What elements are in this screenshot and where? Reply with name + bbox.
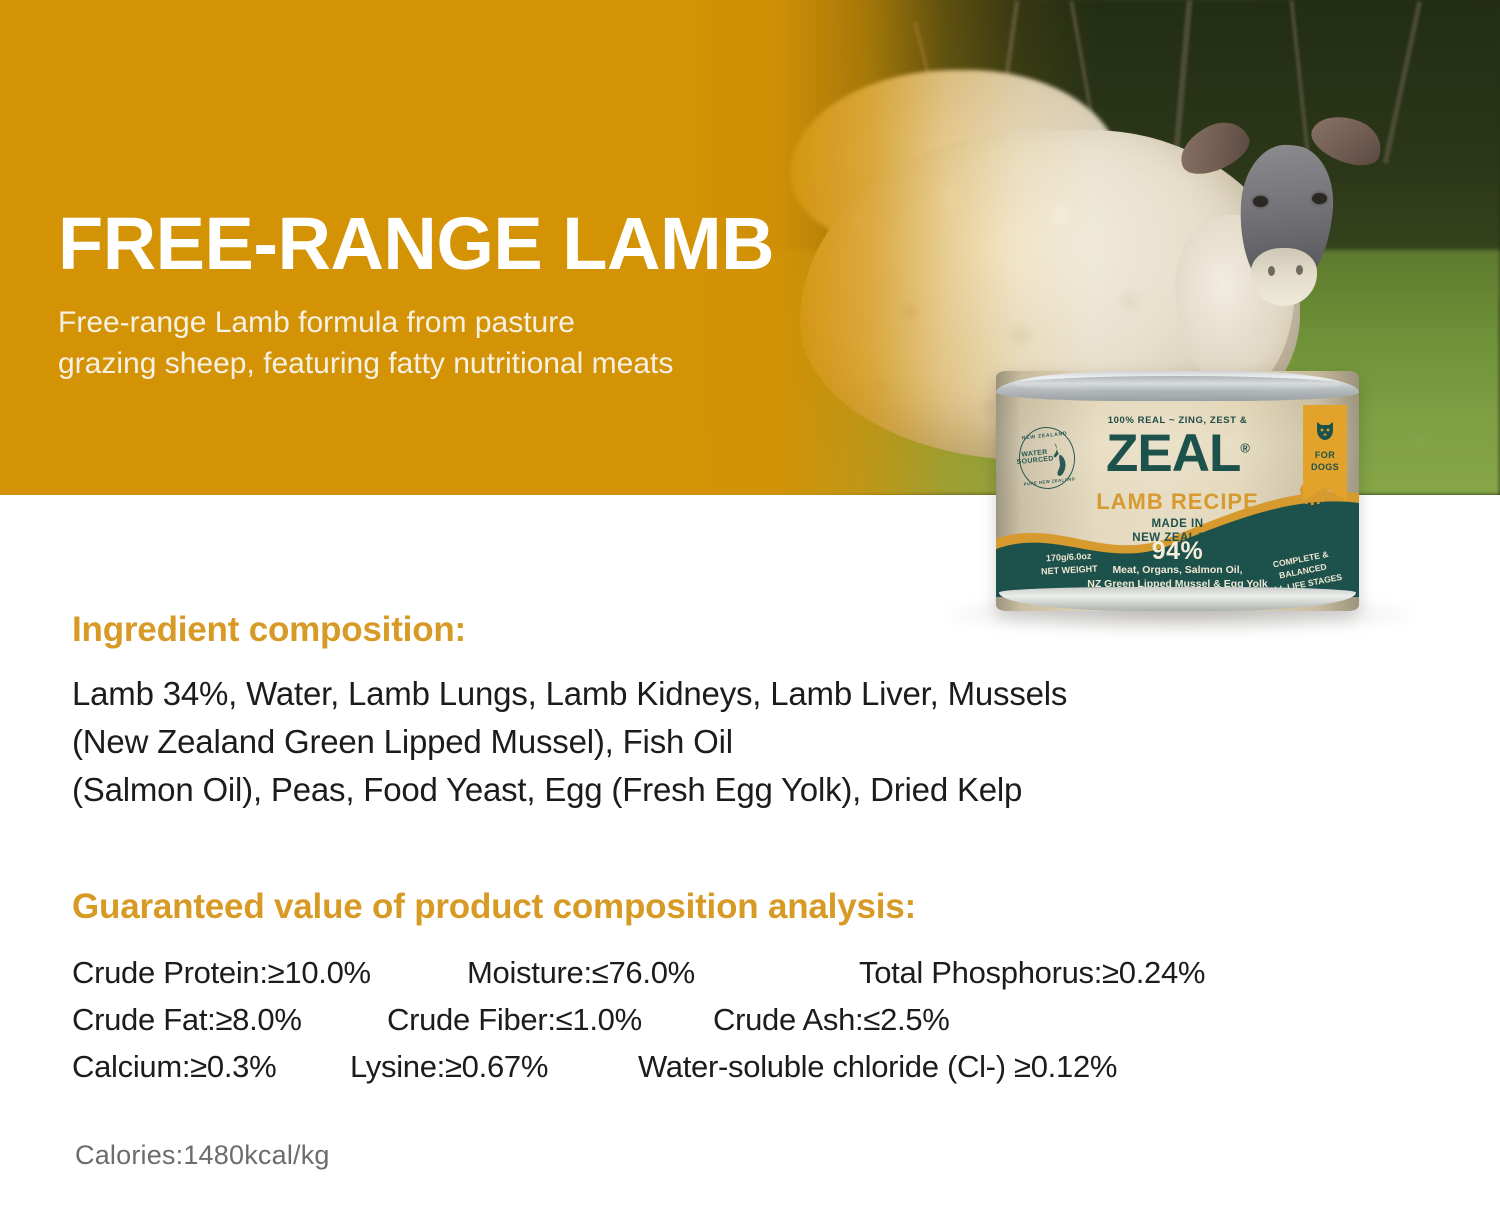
ingredient-heading: Ingredient composition: — [72, 610, 1067, 650]
analysis-row: Crude Fat:≥8.0% Crude Fiber:≤1.0% Crude … — [72, 996, 1205, 1043]
hero-subtitle: Free-range Lamb formula from pasture gra… — [58, 303, 818, 384]
analysis-cell: Lysine:≥0.67% — [350, 1043, 638, 1090]
for-dogs-ribbon: FOR DOGS — [1303, 405, 1347, 501]
hero-subtitle-line-1: Free-range Lamb formula from pasture — [58, 303, 818, 344]
calories-text: Calories:1480kcal/kg — [75, 1140, 330, 1171]
analysis-cell: Crude Fat:≥8.0% — [72, 996, 387, 1043]
made-in-line-1: MADE IN — [996, 517, 1359, 531]
dog-head-icon — [1314, 419, 1336, 443]
hero-title: FREE-RANGE LAMB — [58, 206, 818, 281]
analysis-cell: Crude Fiber:≤1.0% — [387, 996, 713, 1043]
can-lid-inner — [1014, 376, 1341, 393]
ingredient-line: (New Zealand Green Lipped Mussel), Fish … — [72, 718, 1067, 766]
ingredient-list: Lamb 34%, Water, Lamb Lungs, Lamb Kidney… — [72, 670, 1067, 815]
analysis-row: Calcium:≥0.3% Lysine:≥0.67% Water-solubl… — [72, 1043, 1205, 1090]
for-dogs-line-1: FOR — [1303, 449, 1347, 461]
analysis-row: Crude Protein:≥10.0% Moisture:≤76.0% Tot… — [72, 949, 1205, 996]
net-weight-block: 170g/6.0oz NET WEIGHT — [1023, 549, 1114, 579]
guaranteed-analysis-table: Crude Protein:≥10.0% Moisture:≤76.0% Tot… — [72, 949, 1205, 1090]
can-body: 100% REAL ~ ZING, ZEST & ZEAL® LAMB RECI… — [996, 371, 1359, 611]
analysis-cell: Total Phosphorus:≥0.24% — [859, 949, 1205, 996]
for-dogs-line-2: DOGS — [1303, 461, 1347, 473]
product-can: 100% REAL ~ ZING, ZEST & ZEAL® LAMB RECI… — [996, 357, 1359, 620]
new-zealand-badge: NEW ZEALAND WATER SOURCED PURE NEW ZEALA… — [1016, 424, 1078, 492]
analysis-cell: Crude Protein:≥10.0% — [72, 949, 467, 996]
analysis-cell: Calcium:≥0.3% — [72, 1043, 350, 1090]
hero-subtitle-line-2: grazing sheep, featuring fatty nutrition… — [58, 344, 818, 385]
guaranteed-analysis-heading: Guaranteed value of product composition … — [72, 887, 1205, 927]
hero-text-block: FREE-RANGE LAMB Free-range Lamb formula … — [58, 206, 818, 384]
product-infographic: FREE-RANGE LAMB Free-range Lamb formula … — [0, 0, 1500, 1205]
analysis-cell: Water-soluble chloride (Cl-) ≥0.12% — [638, 1043, 1117, 1090]
brand-name: ZEAL — [1106, 424, 1240, 483]
can-lid — [996, 371, 1359, 401]
analysis-cell: Moisture:≤76.0% — [467, 949, 859, 996]
guaranteed-analysis-section: Guaranteed value of product composition … — [72, 887, 1205, 1090]
new-zealand-map-icon — [1048, 440, 1072, 480]
ingredient-line: (Salmon Oil), Peas, Food Yeast, Egg (Fre… — [72, 766, 1067, 814]
registered-mark: ® — [1240, 440, 1249, 455]
ingredient-line: Lamb 34%, Water, Lamb Lungs, Lamb Kidney… — [72, 670, 1067, 718]
ingredient-section: Ingredient composition: Lamb 34%, Water,… — [72, 610, 1067, 815]
analysis-cell: Crude Ash:≤2.5% — [713, 996, 950, 1043]
for-dogs-text: FOR DOGS — [1303, 449, 1347, 473]
